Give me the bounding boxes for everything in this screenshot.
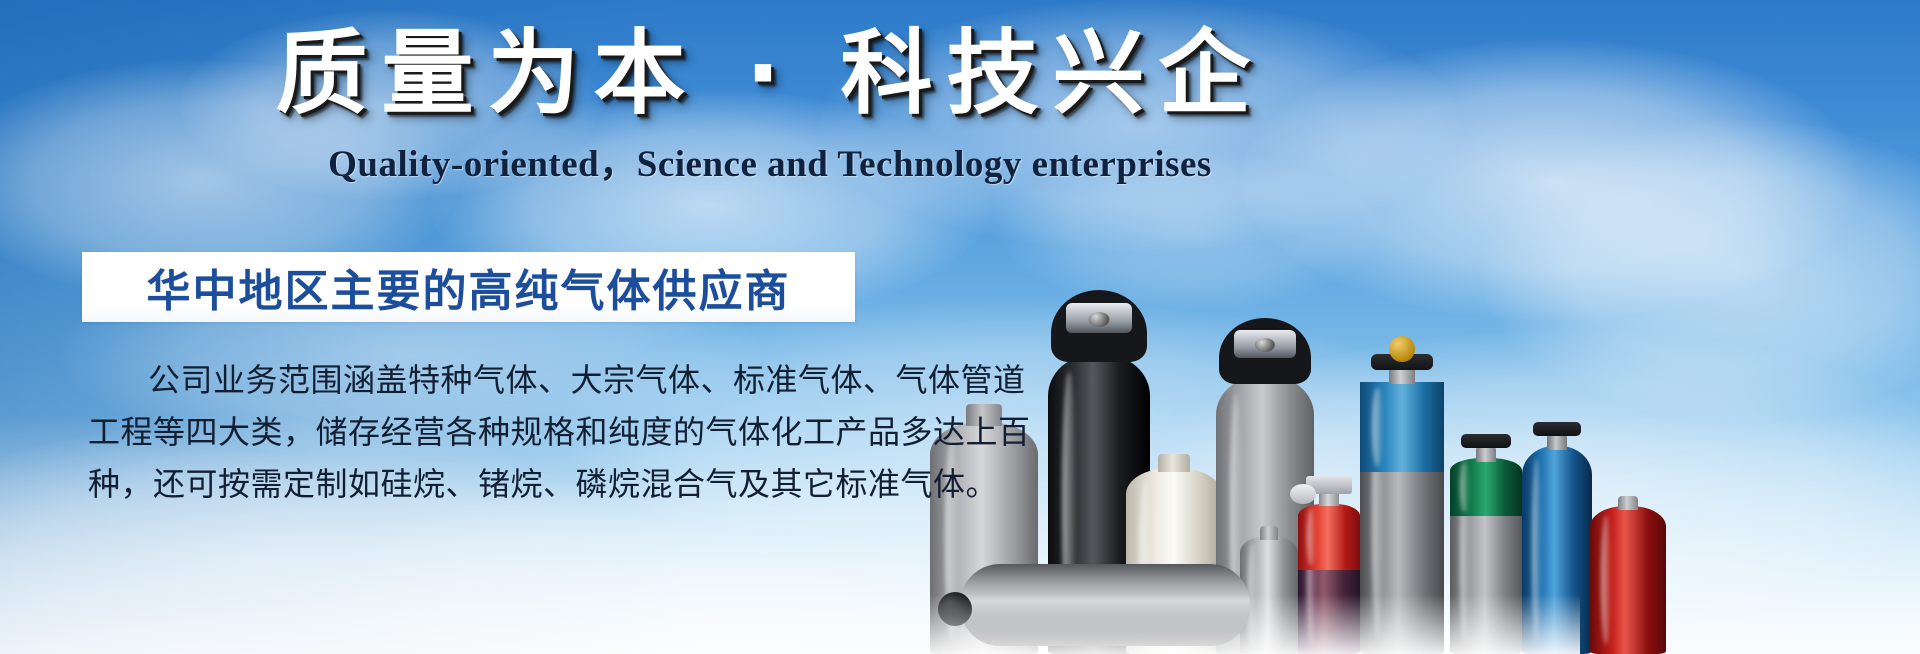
callout-box: 华中地区主要的高纯气体供应商: [82, 252, 855, 322]
description-paragraph: 公司业务范围涵盖特种气体、大宗气体、标准气体、气体管道 工程等四大类，储存经营各…: [88, 355, 858, 510]
paragraph-line: 工程等四大类，储存经营各种规格和纯度的气体化工产品多达上百: [88, 407, 858, 459]
page-title: 质量为本 · 科技兴企: [0, 22, 1540, 125]
paragraph-line: 公司业务范围涵盖特种气体、大宗气体、标准气体、气体管道: [88, 355, 858, 407]
callout-text: 华中地区主要的高纯气体供应商: [147, 255, 791, 319]
photo-bottom-fade: [930, 594, 1580, 654]
cylinder-red-right: [1590, 494, 1666, 654]
hero-banner: 质量为本 · 科技兴企 Quality-oriented，Science and…: [0, 0, 1920, 654]
page-subtitle: Quality-oriented，Science and Technology …: [0, 133, 1540, 187]
paragraph-line: 种，还可按需定制如硅烷、锗烷、磷烷混合气及其它标准气体。: [88, 459, 858, 511]
